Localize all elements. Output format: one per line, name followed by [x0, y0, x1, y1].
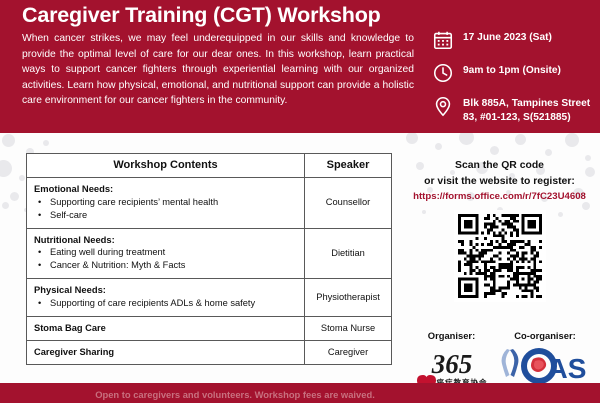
content-category: Emotional Needs: [34, 183, 304, 194]
decorative-dot [515, 134, 526, 145]
poster: Caregiver Training (CGT) Workshop When c… [0, 0, 600, 403]
coorganiser-label: Co-organiser: [491, 330, 599, 341]
page-title: Caregiver Training (CGT) Workshop [22, 3, 381, 28]
table-row: Emotional Needs:•Supporting care recipie… [27, 178, 392, 229]
cell-workshop-content: Emotional Needs:•Supporting care recipie… [27, 178, 305, 229]
content-bullet: •Eating well during treatment [34, 246, 304, 259]
intro-paragraph: When cancer strikes, we may feel undereq… [22, 31, 414, 109]
decorative-dot [0, 160, 12, 177]
scan-instruction-line2: or visit the website to register: [399, 174, 600, 190]
event-detail-time: 9am to 1pm (Onsite) [432, 61, 592, 84]
cell-workshop-content: Physical Needs:•Supporting of care recip… [27, 279, 305, 317]
bullet-text: Eating well during treatment [50, 246, 165, 259]
registration-panel: Scan the QR code or visit the website to… [399, 158, 600, 302]
location-pin-icon [432, 95, 454, 117]
event-location-text: Blk 885A, Tampines Street 83, #01-123, S… [463, 94, 592, 124]
table-header-row: Workshop Contents Speaker [27, 154, 392, 178]
cell-speaker: Dietitian [305, 228, 392, 279]
table-row: Physical Needs:•Supporting of care recip… [27, 279, 392, 317]
cell-speaker: Stoma Nurse [305, 316, 392, 340]
content-bullet: •Supporting care recipients’ mental heal… [34, 196, 304, 209]
footer-band: Open to caregivers and volunteers. Works… [0, 383, 600, 403]
clock-icon [432, 62, 454, 84]
content-bullet: •Supporting of care recipients ADLs & ho… [34, 297, 304, 310]
bullet-text: Supporting care recipients’ mental healt… [50, 196, 218, 209]
decorative-dot [545, 149, 552, 156]
content-category: Nutritional Needs: [34, 234, 304, 245]
cell-speaker: Counsellor [305, 178, 392, 229]
event-date-text: 17 June 2023 (Sat) [463, 28, 552, 45]
event-detail-date: 17 June 2023 (Sat) [432, 28, 592, 51]
svg-text:365: 365 [430, 349, 472, 379]
bullet-text: Cancer & Nutrition: Myth & Facts [50, 259, 185, 272]
calendar-icon [432, 29, 454, 51]
decorative-dot [19, 175, 25, 181]
event-detail-location: Blk 885A, Tampines Street 83, #01-123, S… [432, 94, 592, 124]
workshop-contents-table: Workshop Contents Speaker Emotional Need… [26, 153, 392, 365]
registration-url[interactable]: https://forms.office.com/r/7fC23U4608 [399, 189, 600, 204]
table-row: Nutritional Needs:•Eating well during tr… [27, 228, 392, 279]
cell-workshop-content: Caregiver Sharing [27, 340, 305, 364]
registration-qr-code[interactable] [454, 210, 546, 302]
column-header-contents: Workshop Contents [27, 154, 305, 178]
bullet-text: Supporting of care recipients ADLs & hom… [50, 297, 255, 310]
bullet-marker: • [34, 297, 50, 310]
scan-instruction-line1: Scan the QR code [399, 158, 600, 174]
decorative-dot [2, 202, 9, 209]
table-row: Stoma Bag CareStoma Nurse [27, 316, 392, 340]
svg-text:AS: AS [548, 353, 587, 384]
header-band: Caregiver Training (CGT) Workshop When c… [0, 0, 600, 133]
decorative-dot [406, 132, 418, 144]
column-header-speaker: Speaker [305, 154, 392, 178]
organiser-label: Organiser: [409, 330, 494, 341]
decorative-dot [2, 134, 15, 147]
table-row: Caregiver SharingCaregiver [27, 340, 392, 364]
cell-workshop-content: Nutritional Needs:•Eating well during tr… [27, 228, 305, 279]
decorative-dot [565, 133, 579, 147]
footer-note: Open to caregivers and volunteers. Works… [0, 389, 470, 400]
cell-speaker: Caregiver [305, 340, 392, 364]
bullet-marker: • [34, 259, 50, 272]
decorative-dot [435, 143, 442, 150]
decorative-dot [10, 192, 19, 201]
decorative-dot [490, 146, 499, 155]
bullet-text: Self-care [50, 209, 87, 222]
cell-workshop-content: Stoma Bag Care [27, 316, 305, 340]
bullet-marker: • [34, 246, 50, 259]
event-time-text: 9am to 1pm (Onsite) [463, 61, 561, 78]
event-details: 17 June 2023 (Sat) 9am to 1pm (Onsite) [432, 28, 592, 134]
decorative-dot [43, 140, 49, 146]
cell-speaker: Physiotherapist [305, 279, 392, 317]
bullet-marker: • [34, 209, 50, 222]
bullet-marker: • [34, 196, 50, 209]
content-bullet: •Cancer & Nutrition: Myth & Facts [34, 259, 304, 272]
content-bullet: •Self-care [34, 209, 304, 222]
content-category: Physical Needs: [34, 284, 304, 295]
